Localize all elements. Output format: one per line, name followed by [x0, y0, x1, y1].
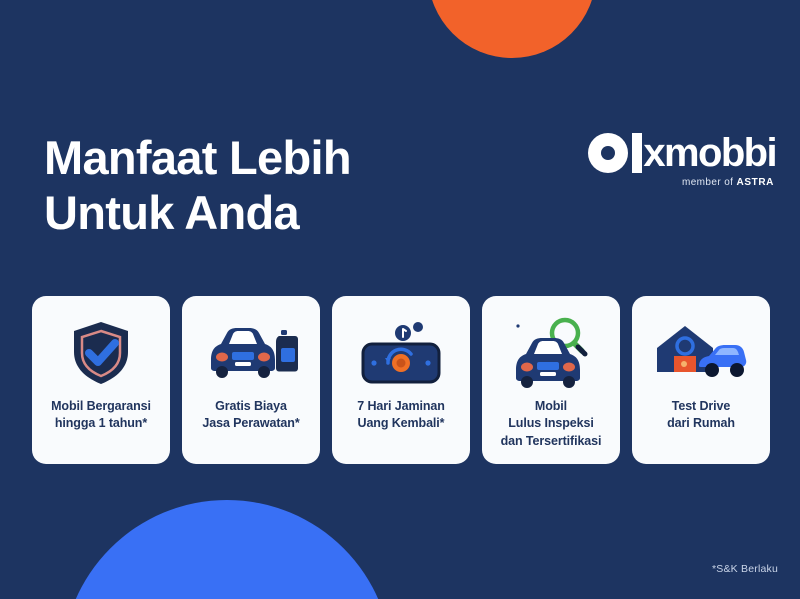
benefit-card-label: Test Drive dari Rumah [667, 398, 735, 433]
headline-line-2: Untuk Anda [44, 186, 351, 241]
logo-mark: xmobbi [588, 133, 776, 173]
benefit-card-list: Mobil Bergaransi hingga 1 tahun* [32, 296, 770, 464]
money-back-icon [340, 312, 462, 394]
benefit-card-inspection[interactable]: Mobil Lulus Inspeksi dan Tersertifikasi [482, 296, 620, 464]
benefit-card-home-test-drive[interactable]: Test Drive dari Rumah [632, 296, 770, 464]
benefit-card-label: 7 Hari Jaminan Uang Kembali* [357, 398, 445, 433]
decorative-blue-circle [62, 500, 392, 599]
car-magnifier-icon [490, 312, 612, 394]
benefit-card-label: Mobil Bergaransi hingga 1 tahun* [51, 398, 151, 433]
brand-logo[interactable]: xmobbi member of ASTRA [588, 133, 776, 188]
terms-footnote: *S&K Berlaku [712, 563, 778, 575]
promo-banner: Manfaat Lebih Untuk Anda xmobbi member o… [0, 0, 800, 599]
logo-tagline-prefix: member of [682, 177, 737, 188]
headline-line-1: Manfaat Lebih [44, 131, 351, 186]
logo-tagline-brand: ASTRA [737, 177, 774, 188]
shield-check-icon [40, 312, 162, 394]
logo-bar-icon [632, 133, 642, 173]
decorative-orange-circle [428, 0, 596, 58]
benefit-card-label: Gratis Biaya Jasa Perawatan* [202, 398, 299, 433]
benefit-card-free-service[interactable]: Gratis Biaya Jasa Perawatan* [182, 296, 320, 464]
benefit-card-warranty[interactable]: Mobil Bergaransi hingga 1 tahun* [32, 296, 170, 464]
logo-wordmark: xmobbi [643, 133, 776, 173]
page-title: Manfaat Lebih Untuk Anda [44, 131, 351, 240]
benefit-card-money-back[interactable]: 7 Hari Jaminan Uang Kembali* [332, 296, 470, 464]
logo-o-icon [588, 133, 628, 173]
car-oil-icon [190, 312, 312, 394]
logo-tagline: member of ASTRA [588, 177, 776, 188]
house-car-icon [640, 312, 762, 394]
logo-mobbi-text: mobbi [664, 131, 776, 175]
logo-x-letter: x [643, 131, 664, 175]
benefit-card-label: Mobil Lulus Inspeksi dan Tersertifikasi [501, 398, 602, 450]
